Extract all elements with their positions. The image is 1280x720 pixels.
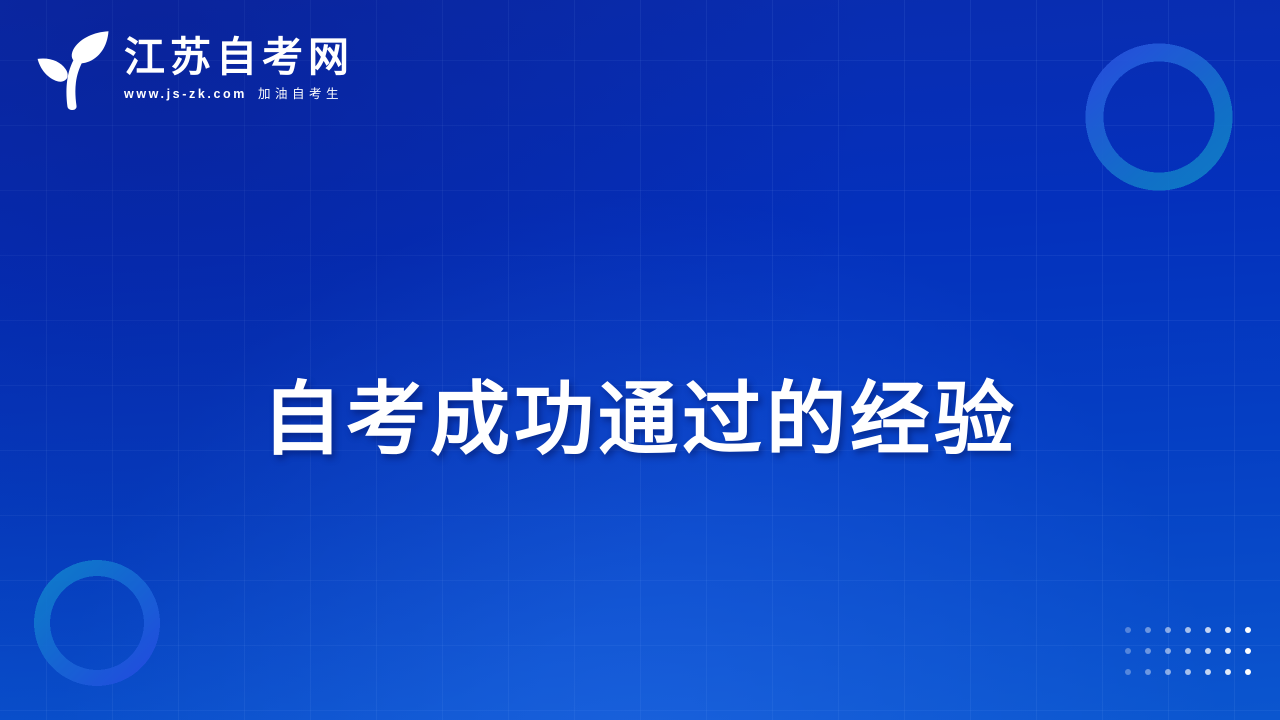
dot: [1205, 627, 1211, 633]
dot: [1205, 669, 1211, 675]
logo-url: www.js-zk.com: [124, 87, 247, 101]
dot: [1185, 669, 1191, 675]
dot: [1125, 627, 1131, 633]
page-title: 自考成功通过的经验: [262, 372, 1018, 466]
logo-tagline: www.js-zk.com 加油自考生: [124, 83, 354, 102]
dot: [1165, 627, 1171, 633]
ring-top-right-decoration: [1056, 12, 1262, 222]
logo-text-block: 江苏自考网 www.js-zk.com 加油自考生: [124, 36, 354, 102]
dot: [1205, 648, 1211, 654]
dot: [1245, 669, 1251, 675]
dot: [1165, 669, 1171, 675]
dot: [1125, 669, 1131, 675]
dot: [1185, 627, 1191, 633]
dot: [1145, 648, 1151, 654]
slide-canvas: 江苏自考网 www.js-zk.com 加油自考生 自考成功通过的经验: [0, 0, 1280, 720]
logo-brand-name: 江苏自考网: [124, 36, 354, 79]
dot: [1125, 648, 1131, 654]
dot: [1225, 669, 1231, 675]
dot: [1145, 627, 1151, 633]
dot: [1245, 627, 1251, 633]
ring-bottom-left-decoration: [8, 534, 186, 712]
logo-slogan: 加油自考生: [258, 83, 343, 102]
title-area: 自考成功通过的经验: [0, 318, 1280, 520]
dot-matrix-decoration: [1118, 619, 1258, 682]
dot: [1145, 669, 1151, 675]
dot: [1185, 648, 1191, 654]
dot: [1225, 627, 1231, 633]
dot: [1225, 648, 1231, 654]
sprout-icon: [36, 28, 112, 110]
dot: [1245, 648, 1251, 654]
dot: [1165, 648, 1171, 654]
site-logo[interactable]: 江苏自考网 www.js-zk.com 加油自考生: [36, 28, 354, 110]
